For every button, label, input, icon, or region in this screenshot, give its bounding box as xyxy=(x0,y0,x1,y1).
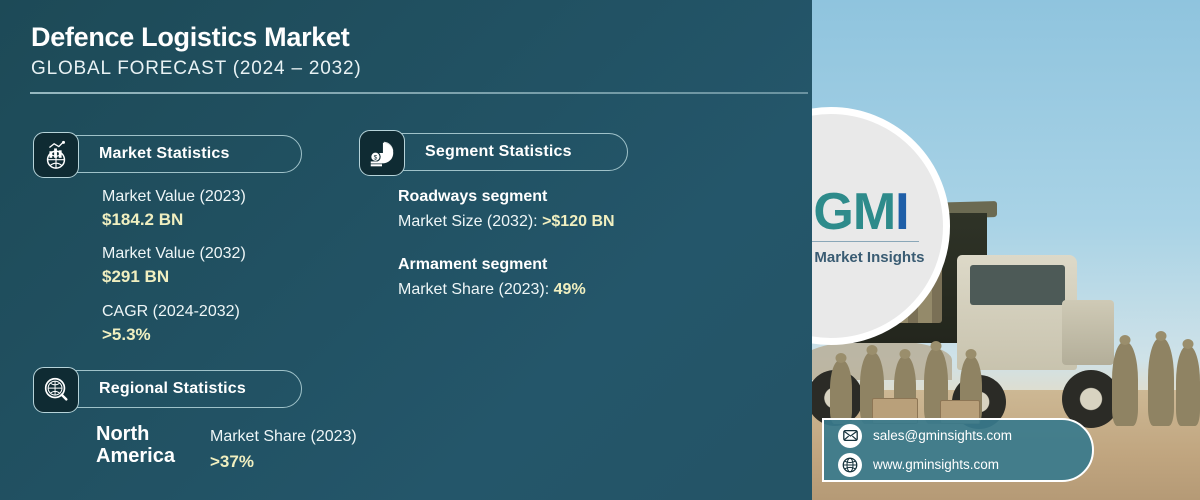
header-divider xyxy=(30,92,808,94)
contact-website-text: www.gminsights.com xyxy=(873,457,999,472)
market-value-2032-value: $291 BN xyxy=(102,267,169,287)
regional-statistics-header: Regional Statistics xyxy=(34,370,302,408)
market-value-2023-value: $184.2 BN xyxy=(102,210,183,230)
contact-email-text: sales@gminsights.com xyxy=(873,428,1012,443)
regional-share-value: >37% xyxy=(210,452,254,472)
contact-bar: sales@gminsights.com www.gminsights.com xyxy=(822,418,1094,482)
globe-bar-chart-icon xyxy=(33,132,79,178)
market-value-2023-label: Market Value (2023) xyxy=(102,188,246,206)
content-panel: Defence Logistics Market GLOBAL FORECAST… xyxy=(0,0,812,500)
market-statistics-header: Market Statistics xyxy=(34,135,302,173)
truck-windshield xyxy=(970,265,1065,305)
contact-email-row[interactable]: sales@gminsights.com xyxy=(838,424,1092,448)
soldier-figure xyxy=(1112,342,1138,426)
infographic-canvas: Defence Logistics Market GLOBAL FORECAST… xyxy=(0,0,1200,500)
gmi-letter-i: I xyxy=(895,186,908,238)
cagr-label: CAGR (2024-2032) xyxy=(102,303,240,321)
gmi-wordmark: G M I xyxy=(812,186,909,238)
logo-tagline: Global Market Insights xyxy=(812,249,924,266)
roadways-segment-line: Market Size (2032): >$120 BN xyxy=(398,213,615,231)
envelope-icon xyxy=(838,424,862,448)
military-logistics-photo: G M I Global Market Insights sales@gmins… xyxy=(812,0,1200,500)
armament-segment-label: Market Share (2023): xyxy=(398,281,549,298)
armament-segment-line: Market Share (2023): 49% xyxy=(398,281,586,299)
roadways-segment-title: Roadways segment xyxy=(398,188,547,206)
regional-share-label: Market Share (2023) xyxy=(210,428,357,446)
armament-segment-value: 49% xyxy=(554,281,586,298)
pie-chart-money-icon: $ xyxy=(359,130,405,176)
gmi-letter-m: M xyxy=(853,186,895,238)
segment-statistics-label: Segment Statistics xyxy=(425,143,572,161)
soldier-figure xyxy=(1176,346,1200,426)
market-statistics-label: Market Statistics xyxy=(99,145,230,163)
globe-magnifier-icon xyxy=(33,367,79,413)
page-subtitle: GLOBAL FORECAST (2024 – 2032) xyxy=(31,58,362,80)
regional-statistics-label: Regional Statistics xyxy=(99,380,246,398)
segment-statistics-header: $ Segment Statistics xyxy=(360,133,628,171)
logo-divider xyxy=(812,241,919,242)
roadways-segment-label: Market Size (2032): xyxy=(398,213,538,230)
page-title: Defence Logistics Market xyxy=(31,22,349,53)
contact-website-row[interactable]: www.gminsights.com xyxy=(838,453,1092,477)
soldier-figure xyxy=(1148,338,1174,426)
cagr-value: >5.3% xyxy=(102,325,151,345)
globe-icon xyxy=(838,453,862,477)
svg-text:$: $ xyxy=(374,155,378,162)
roadways-segment-value: >$120 BN xyxy=(542,213,615,230)
gmi-letter-g: G xyxy=(813,186,852,238)
soldier-figure xyxy=(830,360,852,424)
armament-segment-title: Armament segment xyxy=(398,256,547,274)
region-name: North America xyxy=(96,423,175,467)
market-value-2032-label: Market Value (2032) xyxy=(102,245,246,263)
truck-grille xyxy=(1062,300,1114,365)
